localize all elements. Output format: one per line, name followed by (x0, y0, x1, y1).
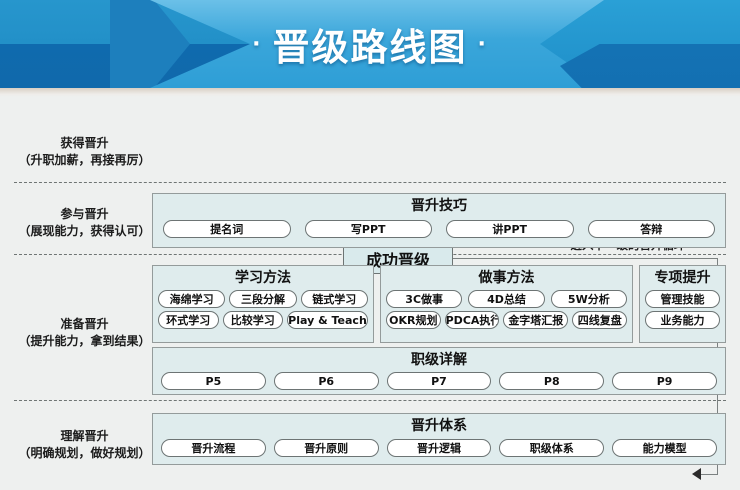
pill-doing-5[interactable]: 金字塔汇报 (503, 311, 568, 329)
loop-line-horizontal (453, 258, 718, 259)
panel-system: 晋升体系 晋升流程 晋升原则 晋升逻辑 职级体系 能力模型 (152, 413, 726, 465)
stage-label-0-desc: （升职加薪，再接再厉） (2, 152, 167, 169)
title-dot-right: · (468, 32, 498, 57)
panel-doing: 做事方法 3C做事 4D总结 5W分析 OKR规划 PDCA执行 金字塔汇报 四… (380, 265, 633, 343)
panel-skills-title: 晋升技巧 (153, 194, 725, 216)
pill-doing-3[interactable]: OKR规划 (386, 311, 441, 329)
pill-level-0[interactable]: P5 (161, 372, 266, 390)
stage-label-3: 理解晋升 （明确规划，做好规划） (2, 428, 167, 462)
panel-levels-items: P5 P6 P7 P8 P9 (153, 372, 725, 390)
loop-arrow-icon (692, 468, 701, 480)
stage-label-0-name: 获得晋升 (2, 135, 167, 152)
panel-study-row1: 海绵学习 三段分解 链式学习 (153, 290, 373, 311)
separator-3 (14, 400, 726, 401)
pill-special-1[interactable]: 业务能力 (645, 311, 720, 329)
panel-skills-items: 提名词 写PPT 讲PPT 答辩 (153, 220, 725, 238)
pill-study-1[interactable]: 三段分解 (229, 290, 296, 308)
title-dot-left: · (242, 32, 272, 57)
pill-study-4[interactable]: 比较学习 (223, 311, 284, 329)
pill-doing-4[interactable]: PDCA执行 (445, 311, 500, 329)
panel-doing-title: 做事方法 (381, 266, 632, 288)
pill-study-0[interactable]: 海绵学习 (158, 290, 225, 308)
stage-label-3-desc: （明确规划，做好规划） (2, 445, 167, 462)
pill-doing-1[interactable]: 4D总结 (468, 290, 544, 308)
header-banner: · 晋级路线图 · (0, 0, 740, 88)
panel-study-row2: 环式学习 比较学习 Play & Teach (153, 311, 373, 332)
pill-skill-0[interactable]: 提名词 (163, 220, 291, 238)
panel-doing-row2: OKR规划 PDCA执行 金字塔汇报 四线复盘 (381, 311, 632, 332)
stage-label-2-name: 准备晋升 (2, 316, 167, 333)
pill-level-1[interactable]: P6 (274, 372, 379, 390)
pill-skill-3[interactable]: 答辩 (588, 220, 716, 238)
pill-study-3[interactable]: 环式学习 (158, 311, 219, 329)
pill-system-4[interactable]: 能力模型 (612, 439, 717, 457)
panel-levels-title: 职级详解 (153, 348, 725, 370)
page-title: · 晋级路线图 · (0, 0, 740, 88)
pill-level-2[interactable]: P7 (387, 372, 492, 390)
panel-doing-row1: 3C做事 4D总结 5W分析 (381, 290, 632, 311)
banner-shadow (0, 88, 740, 97)
pill-skill-2[interactable]: 讲PPT (446, 220, 574, 238)
page-title-text: 晋级路线图 (273, 17, 468, 71)
stage-label-1-name: 参与晋升 (2, 206, 167, 223)
panel-levels: 职级详解 P5 P6 P7 P8 P9 (152, 347, 726, 395)
pill-skill-1[interactable]: 写PPT (305, 220, 433, 238)
pill-study-2[interactable]: 链式学习 (301, 290, 368, 308)
pill-level-4[interactable]: P9 (612, 372, 717, 390)
pill-doing-0[interactable]: 3C做事 (386, 290, 462, 308)
panel-special-title: 专项提升 (640, 266, 725, 288)
panel-system-title: 晋升体系 (153, 414, 725, 436)
pill-system-1[interactable]: 晋升原则 (274, 439, 379, 457)
panel-study: 学习方法 海绵学习 三段分解 链式学习 环式学习 比较学习 Play & Tea… (152, 265, 374, 343)
stage-label-1: 参与晋升 （展现能力，获得认可） (2, 206, 167, 240)
stage-label-0: 获得晋升 （升职加薪，再接再厉） (2, 135, 167, 169)
pill-study-5[interactable]: Play & Teach (287, 311, 368, 329)
pill-system-2[interactable]: 晋升逻辑 (387, 439, 492, 457)
pill-system-0[interactable]: 晋升流程 (161, 439, 266, 457)
panel-system-items: 晋升流程 晋升原则 晋升逻辑 职级体系 能力模型 (153, 439, 725, 457)
loop-line-return (700, 474, 718, 475)
pill-doing-6[interactable]: 四线复盘 (572, 311, 627, 329)
stage-label-2-desc: （提升能力，拿到结果） (2, 333, 167, 350)
panel-special-row2: 业务能力 (640, 311, 725, 332)
stage-label-3-name: 理解晋升 (2, 428, 167, 445)
separator-1 (14, 182, 726, 183)
panel-special: 专项提升 管理技能 业务能力 (639, 265, 726, 343)
stage-label-2: 准备晋升 （提升能力，拿到结果） (2, 316, 167, 350)
roadmap-body: 获得晋升 （升职加薪，再接再厉） 参与晋升 （展现能力，获得认可） 准备晋升 （… (0, 97, 740, 490)
stage-label-1-desc: （展现能力，获得认可） (2, 223, 167, 240)
pill-doing-2[interactable]: 5W分析 (551, 290, 627, 308)
pill-special-0[interactable]: 管理技能 (645, 290, 720, 308)
panel-special-row1: 管理技能 (640, 290, 725, 311)
panel-skills: 晋升技巧 提名词 写PPT 讲PPT 答辩 (152, 193, 726, 248)
pill-system-3[interactable]: 职级体系 (499, 439, 604, 457)
panel-study-title: 学习方法 (153, 266, 373, 288)
pill-level-3[interactable]: P8 (499, 372, 604, 390)
